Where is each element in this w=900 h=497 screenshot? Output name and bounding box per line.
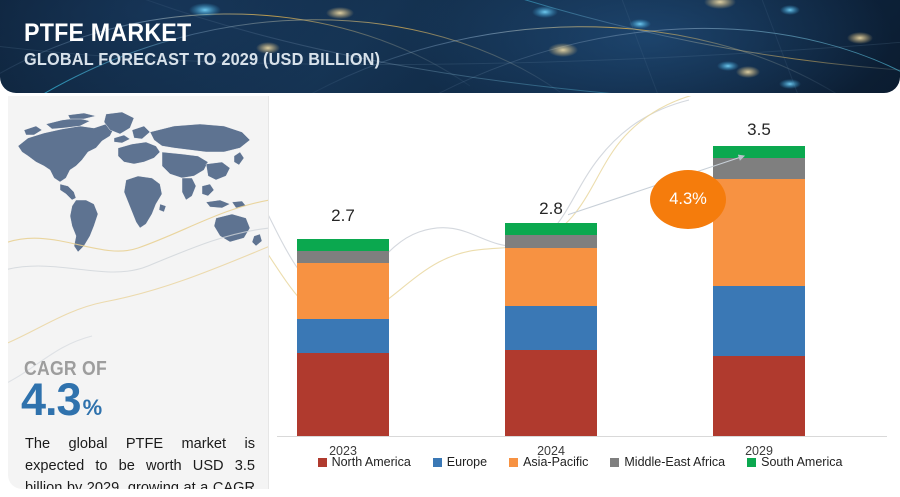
world-map-icon xyxy=(10,108,268,258)
segment-asia-pacific-2023[interactable] xyxy=(297,263,389,319)
legend-item-south-america[interactable]: South America xyxy=(747,455,842,469)
legend-label-middle-east-africa: Middle-East Africa xyxy=(624,455,725,469)
bar-group-2023: 2.7 2023 xyxy=(297,96,389,441)
bar-total-2023: 2.7 xyxy=(297,206,389,226)
legend-label-north-america: North America xyxy=(332,455,411,469)
cagr-callout-bubble[interactable]: 4.3% xyxy=(650,170,726,229)
bar-stack-2029 xyxy=(713,146,805,436)
page-title: PTFE MARKET xyxy=(24,20,380,46)
left-summary-panel: CAGR OF 4.3 % The global PTFE market is … xyxy=(8,96,268,489)
bar-group-2029: 3.5 2029 xyxy=(713,96,805,441)
legend-item-north-america[interactable]: North America xyxy=(318,455,411,469)
chart-panel: 2.7 2023 2.8 xyxy=(268,96,893,489)
bar-stack-2023 xyxy=(297,239,389,436)
cagr-percent-sign: % xyxy=(83,397,103,419)
segment-middle-east-africa-2023[interactable] xyxy=(297,251,389,263)
legend-swatch-europe xyxy=(433,458,442,467)
segment-north-america-2024[interactable] xyxy=(505,350,597,436)
cagr-number: 4.3 xyxy=(21,377,81,422)
segment-north-america-2029[interactable] xyxy=(713,356,805,436)
segment-europe-2024[interactable] xyxy=(505,306,597,350)
legend-swatch-south-america xyxy=(747,458,756,467)
header-text-block: PTFE MARKET GLOBAL FORECAST TO 2029 (USD… xyxy=(24,20,407,70)
segment-europe-2023[interactable] xyxy=(297,319,389,353)
cagr-bubble-text: 4.3% xyxy=(669,190,707,209)
plot-area: 2.7 2023 2.8 xyxy=(269,96,893,441)
segment-south-america-2023[interactable] xyxy=(297,239,389,251)
legend-item-asia-pacific[interactable]: Asia-Pacific xyxy=(509,455,588,469)
summary-description: The global PTFE market is expected to be… xyxy=(25,433,255,489)
bar-group-2024: 2.8 2024 xyxy=(505,96,597,441)
legend-swatch-asia-pacific xyxy=(509,458,518,467)
legend-label-south-america: South America xyxy=(761,455,842,469)
infographic-root: PTFE MARKET GLOBAL FORECAST TO 2029 (USD… xyxy=(0,0,900,497)
legend-item-europe[interactable]: Europe xyxy=(433,455,487,469)
segment-middle-east-africa-2029[interactable] xyxy=(713,158,805,179)
legend-item-middle-east-africa[interactable]: Middle-East Africa xyxy=(610,455,725,469)
segment-middle-east-africa-2024[interactable] xyxy=(505,235,597,248)
legend-label-asia-pacific: Asia-Pacific xyxy=(523,455,588,469)
header-banner: PTFE MARKET GLOBAL FORECAST TO 2029 (USD… xyxy=(0,0,900,93)
segment-asia-pacific-2024[interactable] xyxy=(505,248,597,306)
bar-stack-2024 xyxy=(505,223,597,436)
segment-north-america-2023[interactable] xyxy=(297,353,389,436)
chart-legend: North America Europe Asia-Pacific Middle… xyxy=(268,455,892,469)
segment-south-america-2029[interactable] xyxy=(713,146,805,158)
legend-label-europe: Europe xyxy=(447,455,487,469)
page-subtitle: GLOBAL FORECAST TO 2029 (USD BILLION) xyxy=(24,50,380,69)
segment-asia-pacific-2029[interactable] xyxy=(713,179,805,286)
bar-total-2029: 3.5 xyxy=(713,120,805,140)
legend-swatch-north-america xyxy=(318,458,327,467)
segment-south-america-2024[interactable] xyxy=(505,223,597,235)
segment-europe-2029[interactable] xyxy=(713,286,805,356)
bar-total-2024: 2.8 xyxy=(505,199,597,219)
legend-swatch-middle-east-africa xyxy=(610,458,619,467)
cagr-value: 4.3 % xyxy=(21,377,102,422)
